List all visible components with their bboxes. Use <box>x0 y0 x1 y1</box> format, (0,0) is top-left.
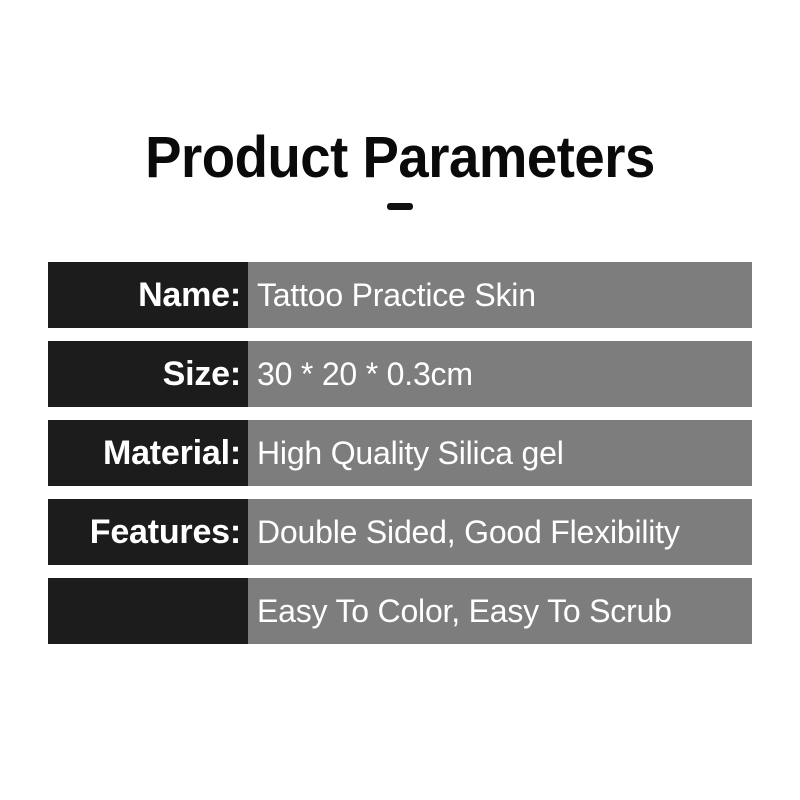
parameter-label: Material: <box>48 420 248 486</box>
table-row: Material: High Quality Silica gel <box>48 420 752 486</box>
product-parameters-page: Product Parameters Name: Tattoo Practice… <box>0 0 800 800</box>
parameter-value: High Quality Silica gel <box>248 420 752 486</box>
parameter-label-empty <box>48 578 248 644</box>
parameter-value: Easy To Color, Easy To Scrub <box>248 578 752 644</box>
table-row: Features: Double Sided, Good Flexibility <box>48 499 752 565</box>
parameters-table: Name: Tattoo Practice Skin Size: 30 * 20… <box>48 262 752 644</box>
parameter-value: 30 * 20 * 0.3cm <box>248 341 752 407</box>
table-row: Name: Tattoo Practice Skin <box>48 262 752 328</box>
parameter-label: Size: <box>48 341 248 407</box>
parameter-value: Tattoo Practice Skin <box>248 262 752 328</box>
parameter-value: Double Sided, Good Flexibility <box>248 499 752 565</box>
table-row: Size: 30 * 20 * 0.3cm <box>48 341 752 407</box>
page-title: Product Parameters <box>24 128 776 187</box>
parameter-label: Features: <box>48 499 248 565</box>
title-divider-dash <box>387 203 413 210</box>
parameter-label: Name: <box>48 262 248 328</box>
table-row: Easy To Color, Easy To Scrub <box>48 578 752 644</box>
title-block: Product Parameters <box>0 128 800 210</box>
